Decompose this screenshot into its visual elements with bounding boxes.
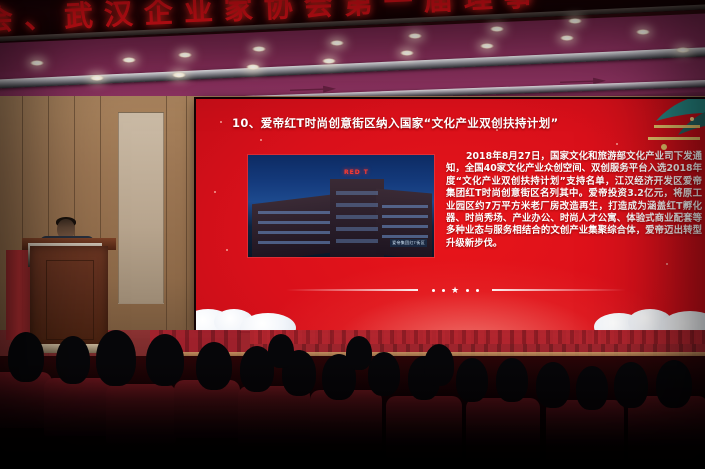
ceiling-downlight	[480, 43, 494, 49]
slide-photo-building: RED T 爱帝集团红T街区	[248, 155, 434, 257]
ceiling-downlight	[330, 40, 344, 46]
foreground-shadow	[0, 361, 705, 469]
ceiling-downlight	[400, 50, 414, 56]
projection-screen: 10、爱帝红T时尚创意街区纳入国家“文化产业双创扶持计划” RED T	[196, 99, 705, 331]
ceiling-downlight	[676, 47, 690, 53]
slide-divider: ★	[286, 285, 626, 295]
photo-logo: 爱帝集团红T街区	[390, 239, 427, 247]
podium-body	[30, 246, 108, 350]
slide-title: 10、爱帝红T时尚创意街区纳入国家“文化产业双创扶持计划”	[232, 115, 682, 131]
ceiling-downlight	[560, 35, 574, 41]
ceiling-downlight	[30, 60, 44, 66]
ceiling-downlight	[122, 57, 136, 63]
ceiling-downlight	[568, 18, 582, 24]
slide-body-text: 2018年8月27日，国家文化和旅游部文化产业司下发通知，全国40家文化产业众创…	[446, 151, 702, 250]
ceiling-downlight	[90, 75, 104, 81]
ceiling-downlight	[172, 72, 186, 78]
ceiling-downlight	[252, 46, 266, 52]
ceiling-downlight	[490, 26, 504, 32]
conference-hall-photo: 会、武汉企业家协会第一届理事	[0, 0, 705, 469]
side-door[interactable]	[118, 112, 164, 304]
ceiling-downlight	[636, 29, 650, 35]
ceiling-downlight	[322, 58, 336, 64]
ceiling-downlight	[408, 33, 422, 39]
ceiling-downlight	[246, 64, 260, 70]
divider-star-icon: ★	[451, 286, 459, 295]
empty-seat-rows-far2	[250, 330, 705, 344]
presentation-slide: 10、爱帝红T时尚创意街区纳入国家“文化产业双创扶持计划” RED T	[196, 99, 705, 331]
ceiling-downlight	[178, 52, 192, 58]
slide-body-paragraph: 2018年8月27日，国家文化和旅游部文化产业司下发通知，全国40家文化产业众创…	[446, 151, 702, 250]
red-t-sign: RED T	[344, 169, 369, 176]
